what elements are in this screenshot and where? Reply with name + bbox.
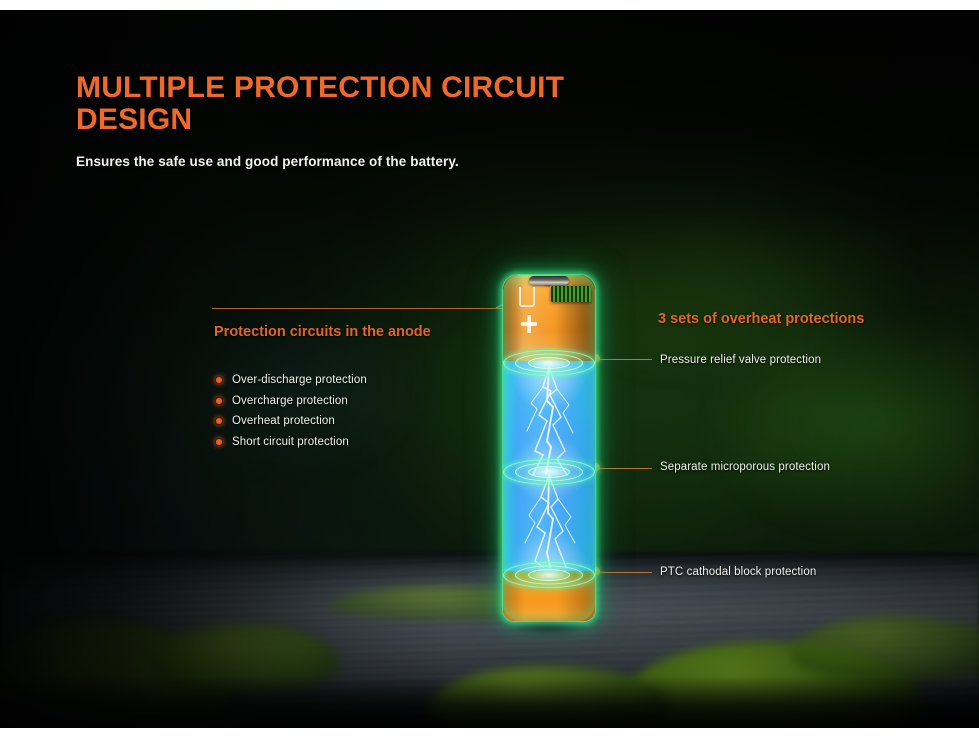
list-item-label: Short circuit protection (232, 436, 349, 448)
callout-ptc-cathodal-block: PTC cathodal block protection (660, 566, 816, 578)
plus-terminal-icon (521, 315, 537, 333)
callout-pressure-relief-valve: Pressure relief valve protection (660, 354, 821, 366)
battery-cathode-section (503, 571, 595, 621)
protection-feature-list: Over-discharge protection Overcharge pro… (214, 370, 367, 452)
list-item-label: Overheat protection (232, 415, 335, 427)
callout-leader-line (598, 359, 652, 360)
battery-positive-cap (529, 276, 569, 285)
list-item: Short circuit protection (214, 432, 367, 452)
callout-leader-line (598, 468, 652, 469)
callout-separate-microporous: Separate microporous protection (660, 461, 830, 473)
bullet-dot-icon (214, 396, 224, 406)
page-subtitle: Ensures the safe use and good performanc… (76, 154, 459, 169)
left-group-title: Protection circuits in the anode (214, 324, 431, 340)
right-group-title: 3 sets of overheat protections (658, 311, 864, 327)
background-bottom-shade (0, 676, 979, 728)
list-item-label: Over-discharge protection (232, 374, 367, 386)
list-item-label: Overcharge protection (232, 395, 348, 407)
battery-ground-shadow (506, 622, 590, 634)
list-item: Over-discharge protection (214, 370, 367, 390)
bullet-dot-icon (214, 437, 224, 447)
list-item: Overheat protection (214, 411, 367, 431)
battery-illustration (498, 270, 598, 624)
left-group-rule (212, 308, 512, 309)
page-title: MULTIPLE PROTECTION CIRCUIT DESIGN (76, 72, 596, 136)
poster-canvas: MULTIPLE PROTECTION CIRCUIT DESIGN Ensur… (0, 10, 979, 728)
bullet-dot-icon (214, 416, 224, 426)
callout-leader-line (598, 572, 652, 573)
ptc-block-icon (551, 286, 591, 302)
battery-core-section (503, 361, 595, 577)
battery-cell-body (502, 274, 596, 622)
list-item: Overcharge protection (214, 391, 367, 411)
negative-terminal-icon (519, 287, 535, 307)
bullet-dot-icon (214, 375, 224, 385)
